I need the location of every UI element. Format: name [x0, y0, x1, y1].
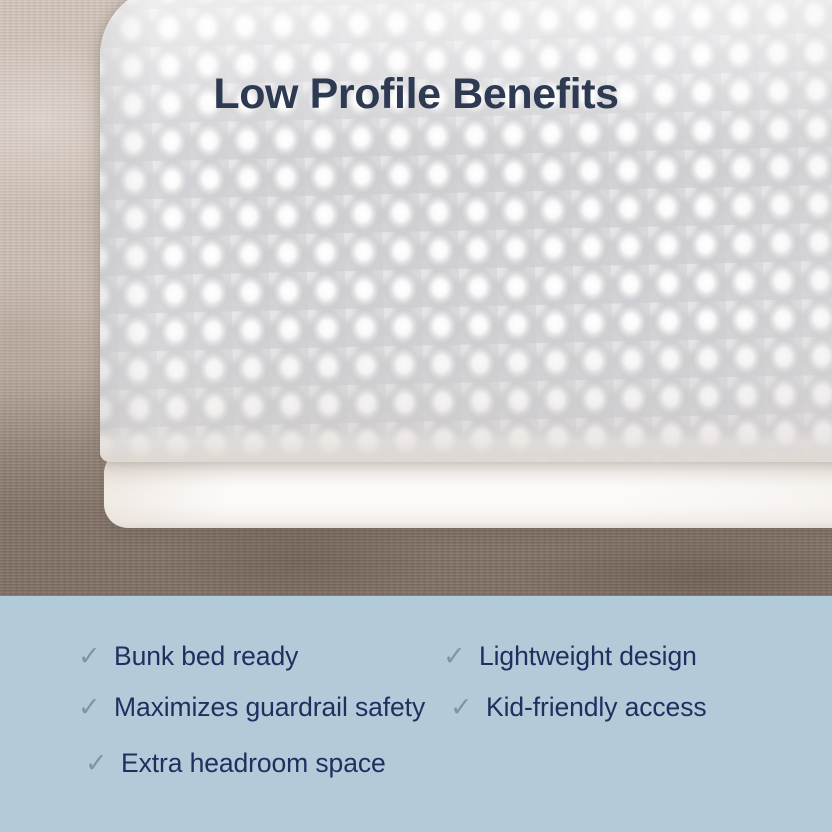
page-title: Low Profile Benefits	[0, 72, 832, 117]
check-icon: ✓	[78, 643, 100, 670]
product-benefits-graphic: Low Profile Benefits ✓ Bunk bed ready ✓ …	[0, 0, 832, 832]
benefit-label: Extra headroom space	[121, 749, 386, 778]
check-icon: ✓	[443, 643, 465, 670]
benefit-item-bunk-bed-ready: ✓ Bunk bed ready	[78, 642, 298, 671]
benefits-list: ✓ Bunk bed ready ✓ Maximizes guardrail s…	[0, 596, 832, 832]
benefit-item-extra-headroom-space: ✓ Extra headroom space	[85, 749, 386, 778]
benefit-item-maximizes-guardrail-safety: ✓ Maximizes guardrail safety	[78, 693, 425, 722]
check-icon: ✓	[85, 750, 107, 777]
check-icon: ✓	[450, 694, 472, 721]
benefit-label: Maximizes guardrail safety	[114, 693, 425, 722]
product-photo: Low Profile Benefits	[0, 0, 832, 596]
benefits-panel: ✓ Bunk bed ready ✓ Maximizes guardrail s…	[0, 596, 832, 832]
benefit-label: Lightweight design	[479, 642, 697, 671]
benefit-item-kid-friendly-access: ✓ Kid-friendly access	[450, 693, 707, 722]
mattress-front-edge	[100, 428, 832, 462]
check-icon: ✓	[78, 694, 100, 721]
benefit-label: Bunk bed ready	[114, 642, 298, 671]
benefit-label: Kid-friendly access	[486, 693, 707, 722]
benefit-item-lightweight-design: ✓ Lightweight design	[443, 642, 697, 671]
